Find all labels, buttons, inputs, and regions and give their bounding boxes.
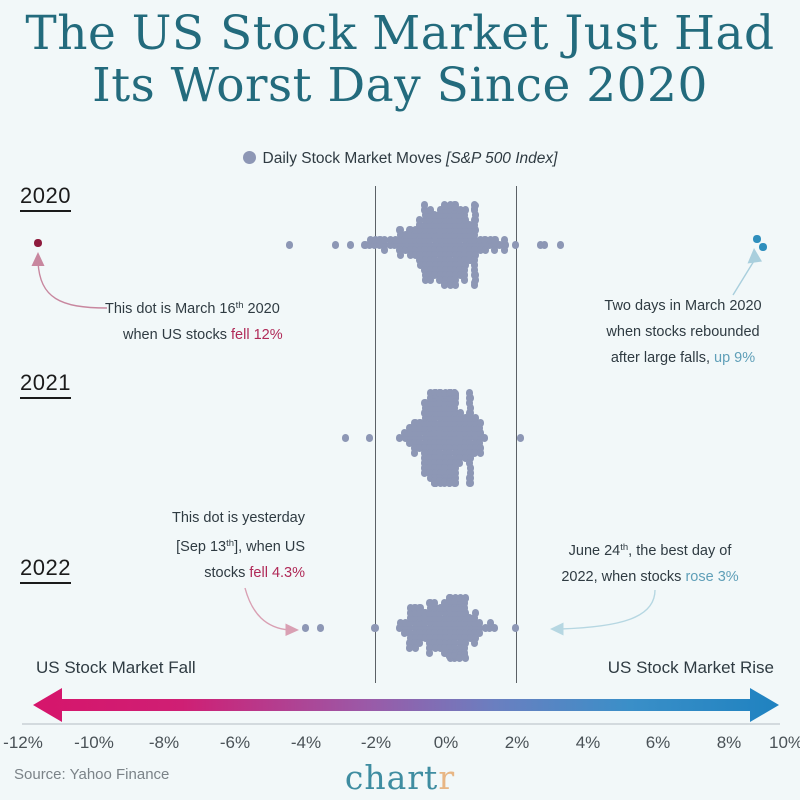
- data-dot: [501, 236, 508, 243]
- axis-tick-minus4pct: -4%: [291, 733, 321, 753]
- chartr-logo-main: chart: [345, 758, 438, 797]
- axis-tick-minus2pct: -2%: [361, 733, 391, 753]
- data-dot: [512, 241, 519, 248]
- axis-tick-0pct: 0%: [434, 733, 459, 753]
- axis-tick-minus12pct: -12%: [3, 733, 43, 753]
- axis-tick-2pct: 2%: [505, 733, 530, 753]
- data-dot: [332, 241, 339, 248]
- axis-tick-6pct: 6%: [646, 733, 671, 753]
- annotation-rebound-line1: Two days in March 2020: [583, 293, 783, 319]
- data-dot: [501, 246, 508, 253]
- data-dot: [477, 419, 484, 426]
- annotation-rebound: Two days in March 2020 when stocks rebou…: [583, 293, 783, 371]
- data-dot: [472, 609, 479, 616]
- axis-label-rise: US Stock Market Rise: [608, 658, 774, 678]
- annotation-march16-line2: when US stocks fell 12%: [105, 322, 315, 348]
- data-dot: [347, 241, 354, 248]
- data-dot: [342, 434, 349, 441]
- data-dot: [366, 434, 373, 441]
- data-dot: [34, 239, 41, 246]
- data-dot: [302, 624, 309, 631]
- axis-tick-8pct: 8%: [717, 733, 742, 753]
- data-dot: [286, 241, 293, 248]
- data-dot: [462, 206, 469, 213]
- axis-tick-labels: -12%-10%-8%-6%-4%-2%0%2%4%6%8%10%: [0, 733, 800, 757]
- annotation-yesterday-line3: stocks fell 4.3%: [140, 560, 305, 586]
- data-dot: [491, 624, 498, 631]
- data-dot: [461, 276, 468, 283]
- data-dot: [557, 241, 564, 248]
- data-dot: [512, 624, 519, 631]
- axis-tick-minus6pct: -6%: [220, 733, 250, 753]
- axis-label-fall: US Stock Market Fall: [36, 658, 196, 678]
- annotation-yesterday: This dot is yesterday [Sep 13th], when U…: [140, 505, 305, 586]
- annotation-rebound-line2: when stocks rebounded: [583, 319, 783, 345]
- data-dot: [541, 241, 548, 248]
- data-dot: [451, 389, 458, 396]
- annotation-march16-line1: This dot is March 16th 2020: [105, 293, 315, 322]
- axis-tick-10pct: 10%: [769, 733, 800, 753]
- data-dot: [317, 624, 324, 631]
- data-dot: [466, 389, 473, 396]
- data-dot: [753, 235, 760, 242]
- data-dot: [471, 639, 478, 646]
- data-dot: [481, 434, 488, 441]
- axis-tick-minus10pct: -10%: [74, 733, 114, 753]
- data-dot: [452, 480, 459, 487]
- axis-baseline: [22, 723, 780, 725]
- annotation-june24-line1: June 24th, the best day of: [540, 535, 760, 564]
- chartr-logo-accent: r: [438, 758, 455, 797]
- annotation-june24-line2: 2022, when stocks rose 3%: [540, 564, 760, 590]
- chartr-logo: chartr: [0, 758, 800, 797]
- data-dot: [759, 243, 766, 250]
- axis-tick-4pct: 4%: [576, 733, 601, 753]
- axis-tick-minus8pct: -8%: [149, 733, 179, 753]
- data-dot: [477, 449, 484, 456]
- annotation-yesterday-line2: [Sep 13th], when US: [140, 531, 305, 560]
- annotation-june24: June 24th, the best day of 2022, when st…: [540, 535, 760, 590]
- data-dot: [452, 281, 459, 288]
- data-dot: [471, 205, 478, 212]
- annotation-rebound-line3: after large falls, up 9%: [583, 345, 783, 371]
- annotation-yesterday-line1: This dot is yesterday: [140, 505, 305, 531]
- annotation-march16: This dot is March 16th 2020 when US stoc…: [105, 293, 315, 348]
- data-dot: [466, 479, 473, 486]
- data-dot: [517, 434, 524, 441]
- data-dot: [371, 624, 378, 631]
- infographic-canvas: The US Stock Market Just Had Its Worst D…: [0, 0, 800, 800]
- beeswarm-dots: [0, 0, 800, 800]
